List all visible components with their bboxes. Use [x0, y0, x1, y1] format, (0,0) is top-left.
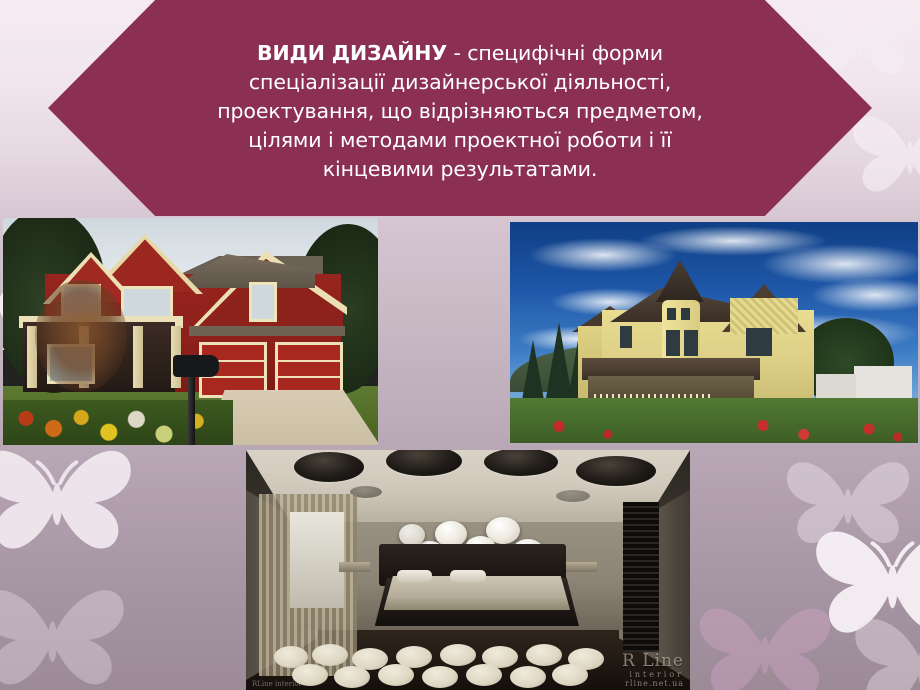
butterfly-icon	[0, 570, 135, 690]
rug-disc	[526, 644, 562, 666]
presentation-slide: ВИДИ ДИЗАЙНУ - специфічні форми спеціалі…	[0, 0, 920, 690]
ceiling-cutout	[576, 456, 656, 486]
dark-wall-panel	[623, 502, 659, 652]
pillow-right	[450, 570, 486, 582]
butterfly-icon	[778, 445, 918, 565]
pillow-left	[397, 570, 433, 582]
turret-lower-window-2	[684, 330, 698, 356]
watermark-corner: RLine interior	[252, 680, 302, 688]
image-yellow-victorian-house	[510, 222, 918, 443]
turret-lower-window	[666, 330, 680, 356]
image-modern-bedroom-interior: R Line interior rline.net.ua RLine inter…	[246, 450, 690, 690]
garage-trim-band	[189, 326, 345, 336]
bay-window	[746, 328, 772, 356]
wall-sconce-left	[339, 562, 370, 572]
wing-window	[620, 326, 632, 348]
rug-disc	[422, 666, 458, 688]
turret-window	[681, 308, 690, 320]
watermark-line-3: rline.net.ua	[622, 680, 684, 688]
butterfly-icon	[690, 590, 840, 690]
turret-window	[667, 308, 676, 320]
rug-disc	[466, 664, 502, 686]
ceiling-cutout	[294, 452, 364, 482]
wall-sconce-right	[566, 562, 597, 572]
window	[290, 512, 343, 608]
porch-column-3	[133, 326, 143, 388]
neighbour-house-right	[854, 366, 912, 402]
banner-text-block: ВИДИ ДИЗАЙНУ - специфічні форми спеціалі…	[210, 39, 710, 184]
rug-disc	[334, 666, 370, 688]
rug-disc	[510, 666, 546, 688]
banner-separator: -	[447, 41, 467, 65]
watermark-line-1: R Line	[622, 653, 684, 671]
watermark: R Line interior rline.net.ua	[622, 653, 684, 688]
image-red-craftsman-house	[3, 218, 378, 445]
butterfly-icon	[845, 600, 920, 690]
garage-door-right	[275, 342, 343, 398]
ornamental-tree	[35, 280, 127, 392]
rug-disc	[312, 644, 348, 666]
rug-disc	[378, 664, 414, 686]
butterfly-icon	[0, 430, 142, 575]
oval-wall-panel	[399, 524, 425, 546]
rug-disc	[440, 644, 476, 666]
window-upper-center	[121, 286, 173, 320]
rose-bushes	[510, 400, 918, 443]
mailbox	[173, 355, 219, 377]
rug-disc	[552, 664, 588, 686]
banner-title: ВИДИ ДИЗАЙНУ	[257, 41, 447, 65]
butterfly-icon	[805, 510, 920, 660]
flower-garden	[3, 400, 233, 445]
window-garage-gable	[249, 282, 277, 322]
ceiling-cutout	[556, 490, 590, 502]
title-banner: ВИДИ ДИЗАЙНУ - специфічні форми спеціалі…	[48, 0, 872, 216]
